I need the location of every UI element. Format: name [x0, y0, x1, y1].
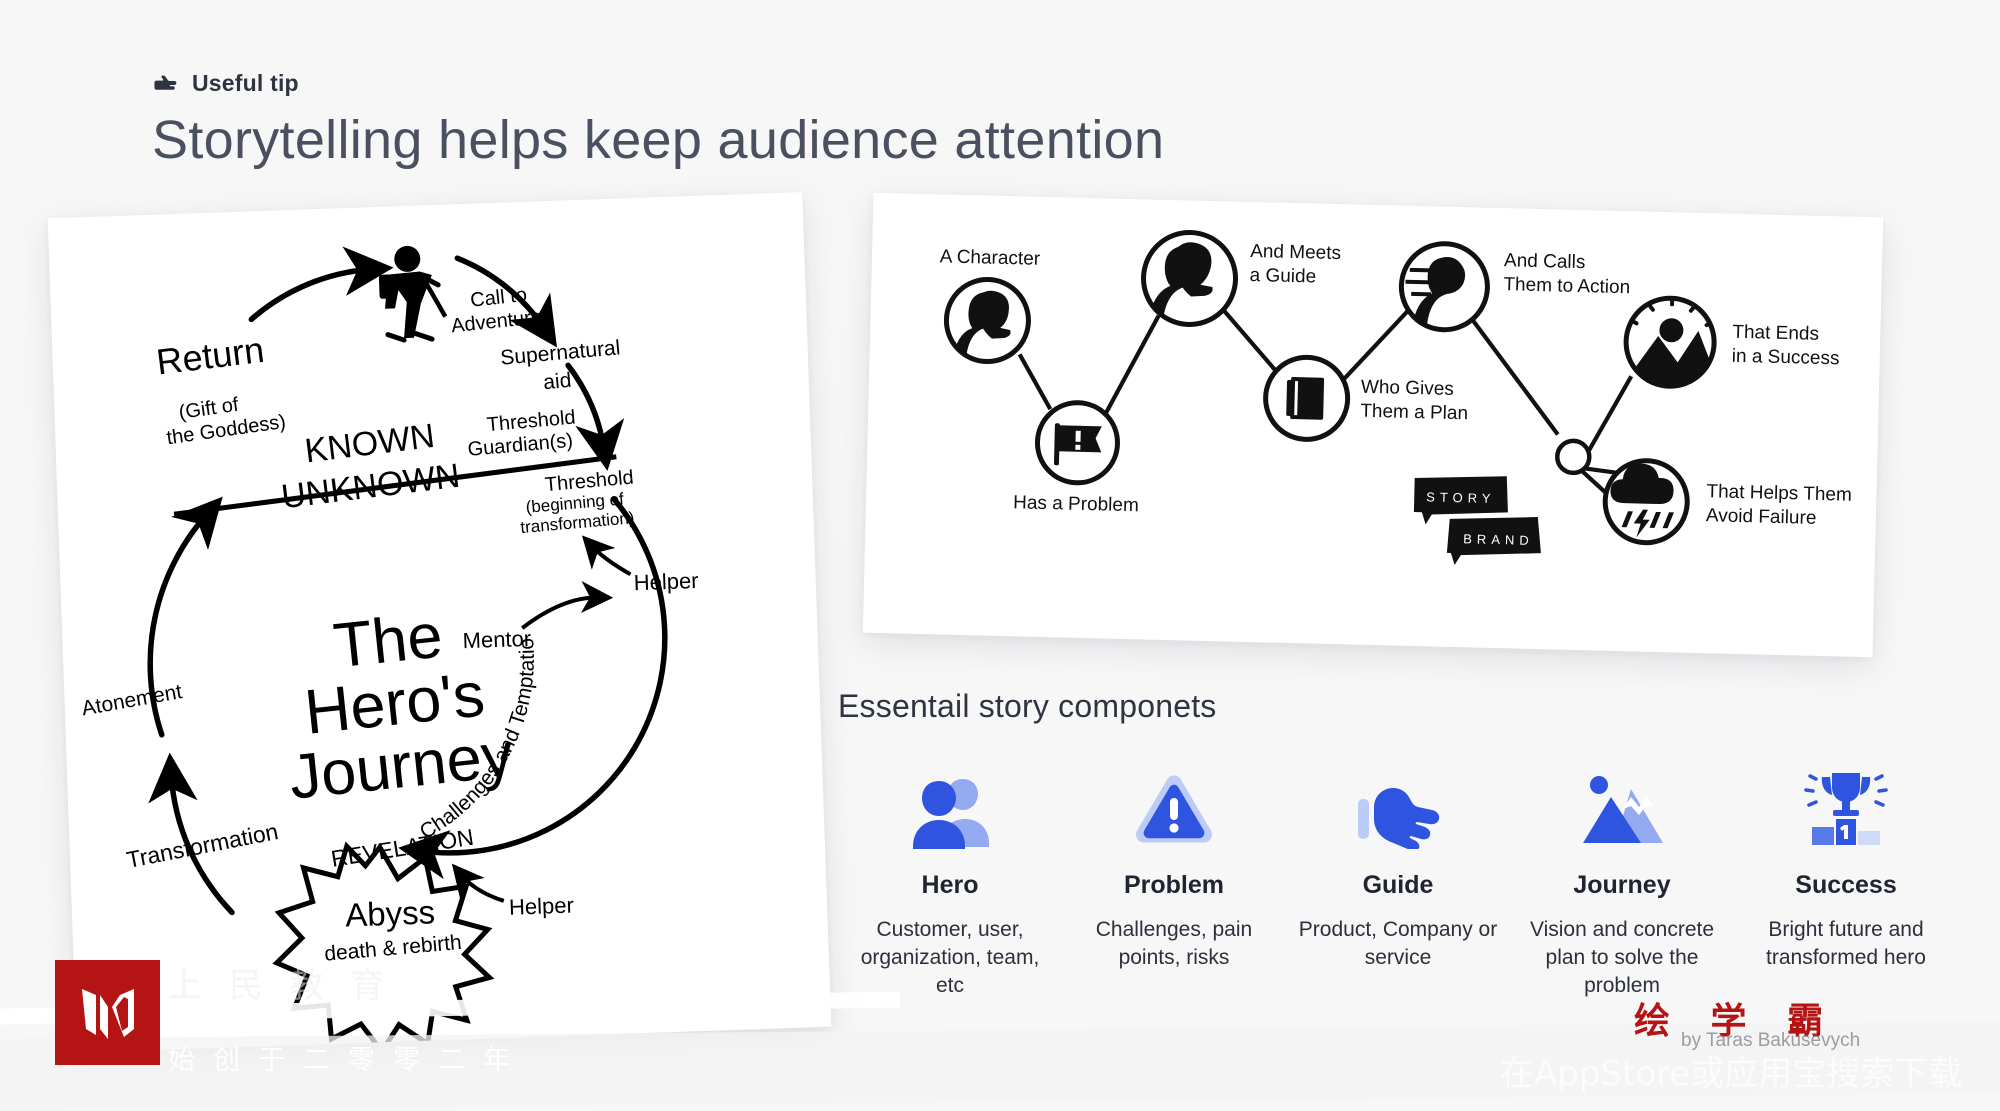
slide-root: Useful tip Storytelling helps keep audie…: [0, 0, 2000, 1102]
node-label-success-2: in a Success: [1732, 346, 1840, 370]
component-desc: Customer, user, organization, team, etc: [848, 916, 1052, 1000]
node-label-plan-2: Them a Plan: [1360, 401, 1468, 425]
node-calls-to-action: [1400, 243, 1488, 332]
component-desc: Product, Company or service: [1296, 916, 1500, 972]
pointing-hand-icon: [152, 71, 178, 97]
storybrand-card: A Character Has a Problem: [863, 193, 1883, 658]
node-label-guide-2: a Guide: [1249, 265, 1316, 288]
transformation-label: Transformation: [124, 818, 280, 873]
node-a-character: [945, 279, 1029, 365]
component-card-hero[interactable]: Hero Customer, user, organization, team,…: [838, 765, 1062, 1000]
useful-tip-row: Useful tip: [152, 70, 1452, 97]
node-label-failure-1: That Helps Them: [1706, 481, 1852, 506]
hiker-icon: [378, 245, 446, 341]
components-grid: Hero Customer, user, organization, team,…: [838, 765, 1958, 1000]
component-desc: Vision and concrete plan to solve the pr…: [1520, 916, 1724, 1000]
abyss-label: Abyss: [345, 893, 436, 933]
useful-tip-label: Useful tip: [192, 70, 299, 97]
component-desc: Bright future and transformed hero: [1744, 916, 1948, 972]
node-label-cta-1: And Calls: [1504, 250, 1586, 273]
storybrand-canvas: A Character Has a Problem: [863, 193, 1883, 658]
node-label-success-1: That Ends: [1732, 322, 1819, 345]
node-avoid-failure: [1604, 460, 1688, 544]
node-has-a-problem: [1037, 402, 1119, 484]
component-title: Success: [1744, 871, 1948, 900]
warning-triangle-icon: [1072, 765, 1276, 849]
pointing-hand-icon: [1296, 765, 1500, 849]
node-label-a-character: A Character: [940, 246, 1041, 269]
component-title: Problem: [1072, 871, 1276, 900]
component-card-problem[interactable]: Problem Challenges, pain points, risks: [1062, 765, 1286, 972]
component-title: Hero: [848, 871, 1052, 900]
node-meets-a-guide: [1142, 231, 1236, 327]
watermark-left-cn-text: 始创于二零零二年: [168, 1038, 528, 1077]
component-card-guide[interactable]: Guide Product, Company or service: [1286, 765, 1510, 972]
helper-right-label: Helper: [633, 568, 699, 595]
supernatural-line2: aid: [542, 369, 572, 394]
storybrand-logo: STORY BRAND: [1413, 474, 1543, 567]
trophy-podium-icon: [1744, 765, 1948, 849]
node-label-guide-1: And Meets: [1250, 241, 1341, 264]
node-label-failure-2: Avoid Failure: [1706, 505, 1817, 529]
page-header: Useful tip Storytelling helps keep audie…: [152, 70, 1452, 170]
return-label: Return: [154, 329, 266, 383]
page-title: Storytelling helps keep audience attenti…: [152, 111, 1452, 170]
supernatural-line1: Supernatural: [499, 336, 621, 369]
watermark-logo: [55, 960, 160, 1065]
storybrand-diagram: A Character Has a Problem: [863, 193, 1883, 658]
revelation-label: REVELATION: [329, 824, 475, 872]
storybrand-logo-line1: STORY: [1426, 489, 1496, 506]
node-label-has-a-problem: Has a Problem: [1013, 492, 1139, 516]
node-label-plan-1: Who Gives: [1361, 377, 1454, 400]
watermark-left-top-text: 上 民 教 育: [168, 958, 392, 1007]
watermark-appstore-text: 在AppStore或应用宝搜索下载: [1500, 1046, 1962, 1095]
w-logo-icon: [72, 977, 144, 1049]
components-title: Essentail story componets: [838, 688, 1958, 725]
plot-node-junction: [1557, 441, 1590, 474]
essential-components-section: Essentail story componets Hero Customer,…: [838, 688, 1958, 1000]
storybrand-logo-line2: BRAND: [1463, 531, 1534, 548]
component-title: Journey: [1520, 871, 1724, 900]
helper-right-arrow: [591, 544, 630, 575]
component-card-journey[interactable]: Journey Vision and concrete plan to solv…: [1510, 765, 1734, 1000]
mountains-icon: [1520, 765, 1724, 849]
call-adventure-line2: Adventure: [450, 306, 543, 337]
hero-journey-canvas: Abyss death & rebirth The Hero's Journey…: [48, 192, 832, 1053]
component-card-success[interactable]: Success Bright future and transformed he…: [1734, 765, 1958, 972]
people-icon: [848, 765, 1052, 849]
threshold-guardians-line2: Guardian(s): [467, 430, 574, 461]
component-desc: Challenges, pain points, risks: [1072, 916, 1276, 972]
hero-journey-diagram: Abyss death & rebirth The Hero's Journey…: [48, 192, 832, 1053]
hero-journey-card: Abyss death & rebirth The Hero's Journey…: [48, 192, 832, 1053]
helper-bottom-label: Helper: [509, 892, 575, 919]
node-label-cta-2: Them to Action: [1503, 274, 1630, 298]
node-ends-in-success: [1621, 291, 1723, 389]
node-gives-a-plan: [1265, 356, 1349, 440]
mentor-arrow: [521, 597, 600, 628]
author-credit: by Taras Bakusevych: [1681, 1030, 1860, 1052]
atonement-label: Atonement: [80, 680, 184, 720]
component-title: Guide: [1296, 871, 1500, 900]
